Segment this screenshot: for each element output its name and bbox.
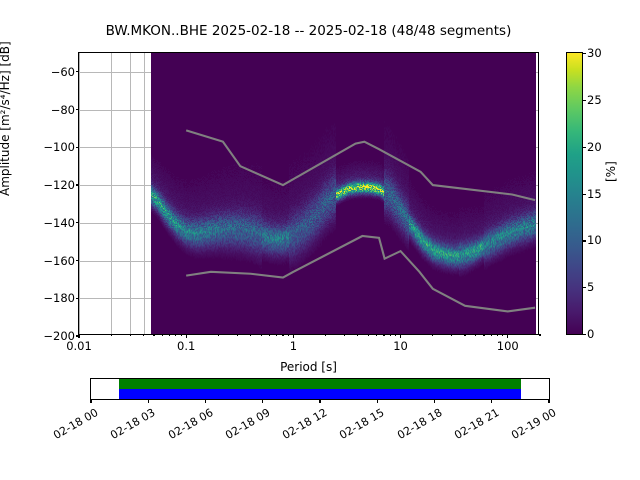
timeline-tick-label: 02-18 00 xyxy=(46,406,101,445)
timeline-tick-mark xyxy=(548,399,549,403)
timeline-bar-psd-segments xyxy=(119,389,521,399)
timeline-tick-label: 02-18 21 xyxy=(446,406,501,445)
x-tick-mark xyxy=(376,334,377,336)
timeline-tick-label: 02-18 06 xyxy=(160,406,215,445)
x-tick-mark xyxy=(432,334,433,336)
colorbar-tick-label: 25 xyxy=(587,93,602,107)
x-tick-mark xyxy=(143,334,144,336)
x-tick-mark xyxy=(261,334,262,336)
timeline-tick-mark xyxy=(148,399,149,403)
colorbar-tick-mark xyxy=(582,53,586,54)
y-tick-label: −140 xyxy=(43,216,75,230)
timeline-tick-mark xyxy=(434,399,435,403)
timeline-tick-label: 02-19 00 xyxy=(504,406,559,445)
x-tick-mark xyxy=(293,334,294,338)
x-tick-mark xyxy=(390,334,391,336)
figure-title: BW.MKON..BHE 2025-02-18 -- 2025-02-18 (4… xyxy=(0,23,617,39)
x-tick-mark xyxy=(237,334,238,336)
timeline-tick-label: 02-18 15 xyxy=(332,406,387,445)
colorbar-tick-mark xyxy=(582,147,586,148)
x-tick-mark xyxy=(276,334,277,336)
colorbar-tick-label: 10 xyxy=(587,233,602,247)
x-tick-mark xyxy=(288,334,289,336)
y-tick-mark xyxy=(76,298,80,299)
colorbar-tick-label: 15 xyxy=(587,187,602,201)
y-tick-label: −80 xyxy=(51,103,75,117)
timeline-tick-label: 02-18 12 xyxy=(275,406,330,445)
x-tick-mark xyxy=(162,334,163,336)
y-axis-label: Amplitude [m²/s⁴/Hz] [dB] xyxy=(0,41,12,196)
x-tick-mark xyxy=(269,334,270,336)
x-tick-mark xyxy=(383,334,384,336)
timeline-tick-mark xyxy=(319,399,320,403)
plot-canvas xyxy=(79,53,538,334)
timeline-tick-label: 02-18 03 xyxy=(103,406,158,445)
y-tick-label: −120 xyxy=(43,178,75,192)
x-tick-mark xyxy=(175,334,176,336)
x-tick-mark xyxy=(368,334,369,336)
colorbar-tick-mark xyxy=(582,334,586,335)
x-tick-label: 10 xyxy=(393,339,408,353)
colorbar-tick-mark xyxy=(582,240,586,241)
x-tick-mark xyxy=(250,334,251,336)
y-tick-mark xyxy=(76,260,80,261)
x-tick-mark xyxy=(400,334,401,338)
y-tick-label: −100 xyxy=(43,140,75,154)
x-tick-label: 1 xyxy=(290,339,297,353)
colorbar-tick-mark xyxy=(582,287,586,288)
x-tick-label: 0.1 xyxy=(177,339,195,353)
y-tick-mark xyxy=(76,109,80,110)
x-tick-mark xyxy=(130,334,131,336)
colorbar-tick-label: 5 xyxy=(587,280,594,294)
x-tick-mark xyxy=(186,334,187,338)
x-tick-label: 0.01 xyxy=(66,339,92,353)
x-tick-mark xyxy=(357,334,358,336)
noise-model-nhnm xyxy=(186,130,535,200)
x-axis-label: Period [s] xyxy=(78,360,539,374)
timeline-tick-mark xyxy=(491,399,492,403)
x-tick-mark xyxy=(464,334,465,336)
timeline-tick-mark xyxy=(377,399,378,403)
x-tick-mark xyxy=(539,334,540,336)
timeline-bar-data-coverage xyxy=(119,379,521,389)
x-tick-mark xyxy=(502,334,503,336)
y-tick-mark xyxy=(76,147,80,148)
y-tick-mark xyxy=(76,71,80,72)
y-tick-label: −60 xyxy=(51,65,75,79)
y-tick-mark xyxy=(76,222,80,223)
colorbar-tick-mark xyxy=(582,194,586,195)
colorbar-label: [%] xyxy=(604,161,618,182)
timeline-tick-label: 02-18 09 xyxy=(217,406,272,445)
timeline-tick-mark xyxy=(262,399,263,403)
x-tick-mark xyxy=(395,334,396,336)
x-tick-mark xyxy=(497,334,498,336)
x-tick-mark xyxy=(507,334,508,338)
y-tick-mark xyxy=(76,184,80,185)
ppsd-figure: BW.MKON..BHE 2025-02-18 -- 2025-02-18 (4… xyxy=(0,0,640,480)
timeline-axes[interactable] xyxy=(90,378,550,400)
colorbar-tick-mark xyxy=(582,100,586,101)
colorbar-tick-label: 20 xyxy=(587,140,602,154)
noise-model-overlay xyxy=(79,53,538,334)
x-tick-mark xyxy=(475,334,476,336)
x-tick-mark xyxy=(169,334,170,336)
x-tick-mark xyxy=(325,334,326,336)
x-tick-mark xyxy=(181,334,182,336)
y-tick-label: −160 xyxy=(43,254,75,268)
x-tick-mark xyxy=(483,334,484,336)
x-tick-mark xyxy=(78,334,79,338)
x-tick-label: 100 xyxy=(497,339,519,353)
timeline-tick-mark xyxy=(205,399,206,403)
x-tick-mark xyxy=(153,334,154,336)
noise-model-nlnm xyxy=(186,236,535,311)
x-tick-mark xyxy=(491,334,492,336)
colorbar-tick-label: 0 xyxy=(587,327,594,341)
x-tick-mark xyxy=(218,334,219,336)
x-tick-mark xyxy=(451,334,452,336)
x-tick-mark xyxy=(111,334,112,336)
y-tick-label: −180 xyxy=(43,291,75,305)
x-tick-mark xyxy=(344,334,345,336)
timeline-tick-label: 02-18 18 xyxy=(389,406,444,445)
colorbar[interactable]: 051015202530 xyxy=(566,52,583,335)
timeline-tick-mark xyxy=(90,399,91,403)
colorbar-tick-label: 30 xyxy=(587,46,602,60)
ppsd-plot-area[interactable]: −60−80−100−120−140−160−180−200 0.010.111… xyxy=(78,52,539,335)
x-tick-mark xyxy=(282,334,283,336)
